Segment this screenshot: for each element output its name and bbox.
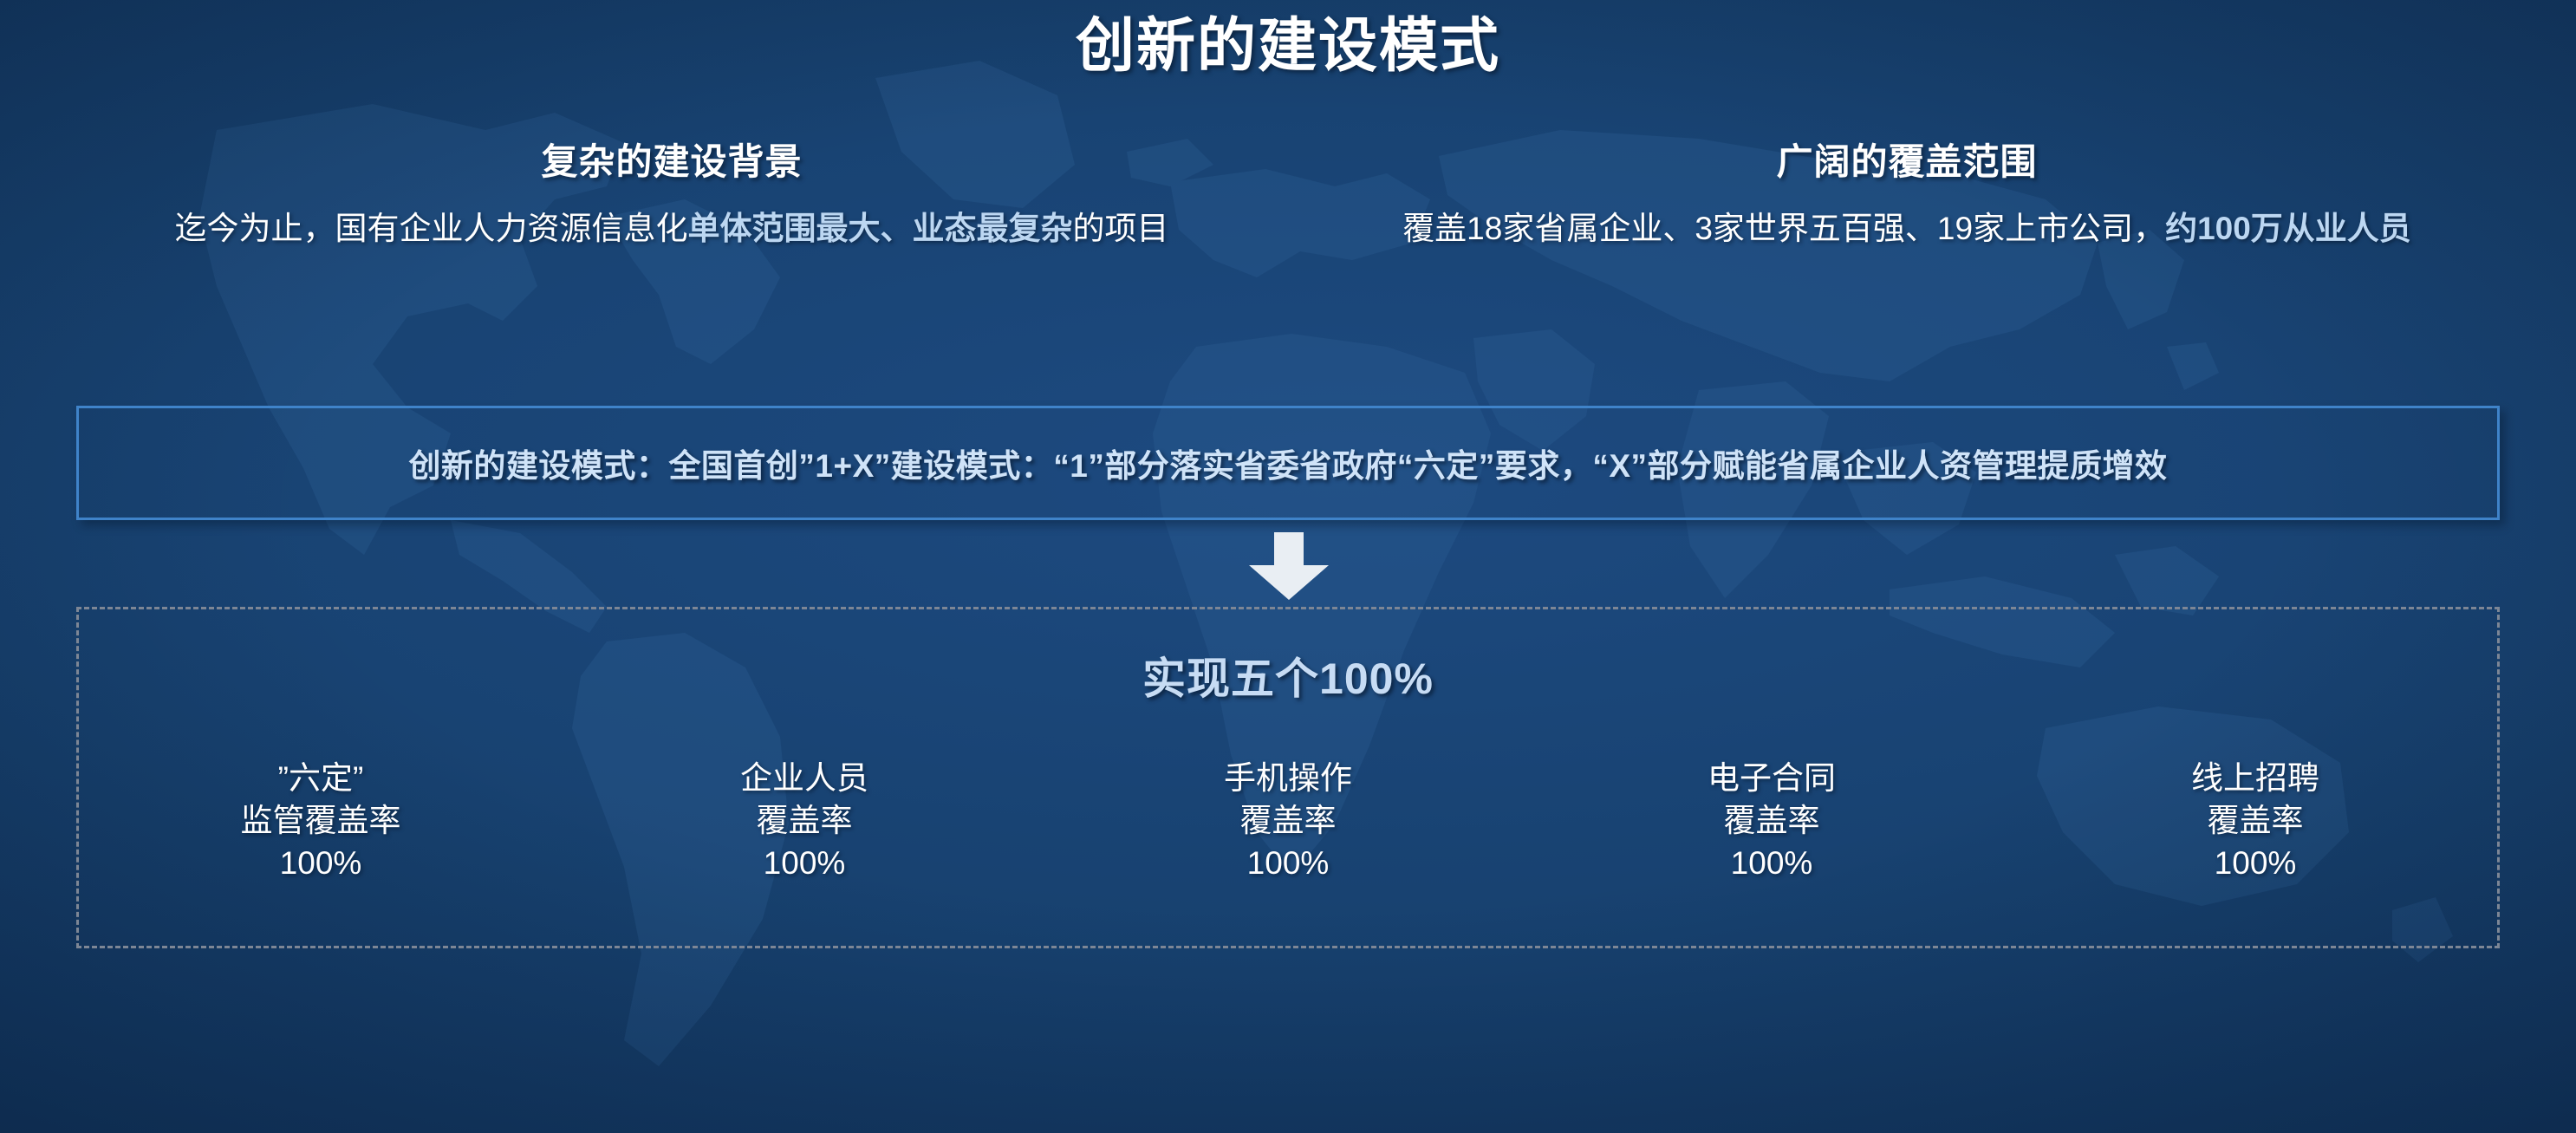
metric-value: 100% [1530,842,2013,884]
model-banner: 创新的建设模式：全国首创”1+X”建设模式：“1”部分落实省委省政府“六定”要求… [76,406,2500,520]
intro-body-right-highlight: 约100万从业人员 [2165,211,2411,246]
metric-name: 手机操作 [1046,757,1530,799]
metric-name: 企业人员 [563,757,1046,799]
metric-item: 线上招聘 覆盖率 100% [2013,757,2497,885]
metric-value: 100% [563,842,1046,884]
metric-label: 覆盖率 [1530,799,2013,842]
metric-label: 覆盖率 [563,799,1046,842]
metric-name: 线上招聘 [2013,757,2497,799]
intro-body-right: 覆盖18家省属企业、3家世界五百强、19家上市公司，约100万从业人员 [1300,206,2514,252]
intro-body-left-plain: 迄今为止，国有企业人力资源信息化 [175,211,688,246]
metric-value: 100% [2013,842,2497,884]
metric-name: ”六定” [79,757,563,799]
metric-value: 100% [79,842,563,884]
page-title: 创新的建设模式 [0,12,2576,80]
metrics-row: ”六定” 监管覆盖率 100% 企业人员 覆盖率 100% 手机操作 覆盖率 1… [79,757,2497,885]
intro-heading-right: 广阔的覆盖范围 [1300,140,2514,184]
intro-body-left-highlight: 单体范围最大、业态最复杂 [688,211,1073,246]
results-heading: 实现五个100% [79,644,2497,706]
intro-section-coverage: 广阔的覆盖范围 覆盖18家省属企业、3家世界五百强、19家上市公司，约100万从… [1300,140,2514,252]
metric-value: 100% [1046,842,1530,884]
intro-body-left-tail: 的项目 [1073,211,1169,246]
metric-item: ”六定” 监管覆盖率 100% [79,757,563,885]
slide-canvas: 创新的建设模式 复杂的建设背景 迄今为止，国有企业人力资源信息化单体范围最大、业… [0,0,2576,1133]
intro-body-left: 迄今为止，国有企业人力资源信息化单体范围最大、业态最复杂的项目 [65,206,1278,252]
metric-label: 监管覆盖率 [79,799,563,842]
metric-label: 覆盖率 [2013,799,2497,842]
model-banner-text: 创新的建设模式：全国首创”1+X”建设模式：“1”部分落实省委省政府“六定”要求… [408,440,2167,486]
metric-item: 企业人员 覆盖率 100% [563,757,1046,885]
intro-section-background: 复杂的建设背景 迄今为止，国有企业人力资源信息化单体范围最大、业态最复杂的项目 [65,140,1278,252]
intro-heading-left: 复杂的建设背景 [65,140,1278,184]
results-panel: 实现五个100% ”六定” 监管覆盖率 100% 企业人员 覆盖率 100% 手… [76,607,2500,948]
metric-name: 电子合同 [1530,757,2013,799]
metric-label: 覆盖率 [1046,799,1530,842]
intro-body-right-plain: 覆盖18家省属企业、3家世界五百强、19家上市公司， [1402,211,2165,246]
metric-item: 电子合同 覆盖率 100% [1530,757,2013,885]
metric-item: 手机操作 覆盖率 100% [1046,757,1530,885]
arrow-down-icon [1249,532,1329,600]
